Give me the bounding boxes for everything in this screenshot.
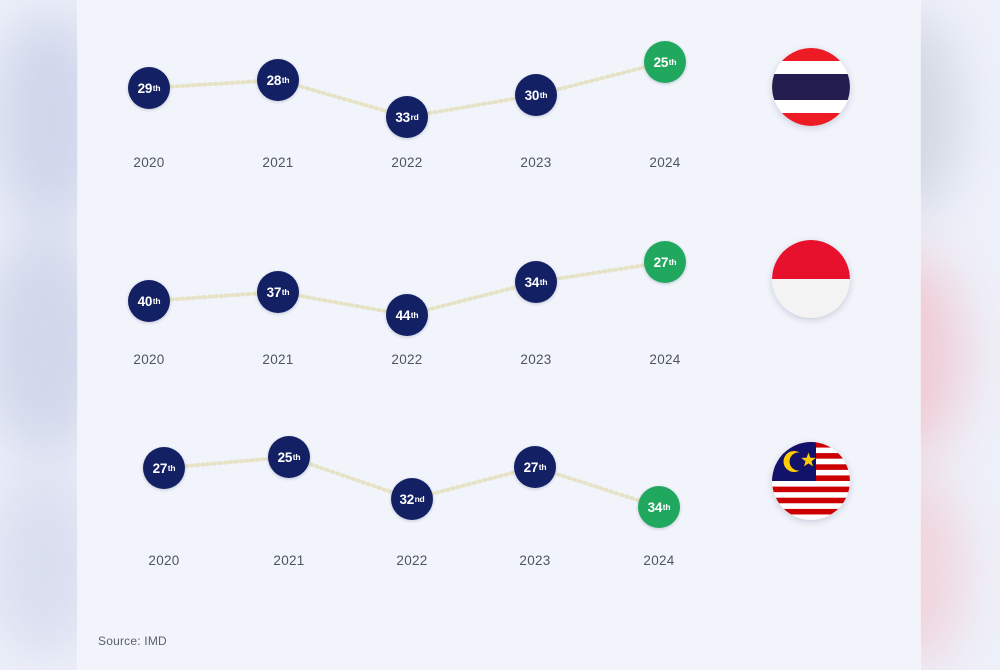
rank-bubble-indonesia-2022[interactable]: 44th [386, 294, 428, 336]
malaysia-flag [772, 442, 850, 520]
year-label-2021: 2021 [273, 553, 304, 568]
rank-bubble-thailand-2020[interactable]: 29th [128, 67, 170, 109]
year-label-2024: 2024 [643, 553, 674, 568]
rank-number: 40 [138, 294, 153, 309]
rank-number: 29 [138, 81, 153, 96]
rank-bubble-malaysia-2022[interactable]: 32nd [391, 478, 433, 520]
rank-number: 34 [525, 275, 540, 290]
year-label-2020: 2020 [133, 155, 164, 170]
year-label-2020: 2020 [133, 352, 164, 367]
country-row-thailand: 29th28th33rd30th25th20202021202220232024 [78, 0, 920, 200]
year-label-2024: 2024 [649, 155, 680, 170]
rank-bubble-thailand-2024[interactable]: 25th [644, 41, 686, 83]
rank-bubble-malaysia-2023[interactable]: 27th [514, 446, 556, 488]
year-label-2021: 2021 [262, 155, 293, 170]
rank-number: 32 [399, 492, 414, 507]
rank-timeline-indonesia: 40th37th44th34th27th [78, 196, 738, 371]
rank-bubble-thailand-2022[interactable]: 33rd [386, 96, 428, 138]
connector-line [78, 196, 738, 371]
rank-number: 25 [278, 450, 293, 465]
rank-number: 33 [395, 110, 410, 125]
year-label-2022: 2022 [396, 553, 427, 568]
rank-number: 28 [267, 73, 282, 88]
thailand-flag [772, 48, 850, 126]
rank-bubble-indonesia-2024[interactable]: 27th [644, 241, 686, 283]
rank-bubble-thailand-2023[interactable]: 30th [515, 74, 557, 116]
year-label-2023: 2023 [520, 155, 551, 170]
source-note: Source: IMD [98, 634, 167, 648]
rank-number: 25 [654, 55, 669, 70]
year-label-2020: 2020 [148, 553, 179, 568]
rank-bubble-malaysia-2024[interactable]: 34th [638, 486, 680, 528]
rank-number: 34 [648, 500, 663, 515]
rank-number: 44 [396, 308, 411, 323]
year-label-2023: 2023 [519, 553, 550, 568]
rank-number: 27 [153, 461, 168, 476]
country-row-indonesia: 40th37th44th34th27th20202021202220232024 [78, 196, 920, 394]
year-label-2022: 2022 [391, 352, 422, 367]
rank-number: 30 [525, 88, 540, 103]
rank-bubble-malaysia-2021[interactable]: 25th [268, 436, 310, 478]
rank-bubble-indonesia-2023[interactable]: 34th [515, 261, 557, 303]
year-label-2021: 2021 [262, 352, 293, 367]
rank-bubble-thailand-2021[interactable]: 28th [257, 59, 299, 101]
indonesia-flag [772, 240, 850, 318]
rank-number: 37 [267, 285, 282, 300]
rank-timeline-thailand: 29th28th33rd30th25th [78, 0, 738, 175]
rank-number: 27 [524, 460, 539, 475]
rank-bubble-malaysia-2020[interactable]: 27th [143, 447, 185, 489]
year-label-2023: 2023 [520, 352, 551, 367]
ranking-chart: 29th28th33rd30th25th20202021202220232024… [78, 0, 920, 670]
country-row-malaysia: 27th25th32nd27th34th20202021202220232024 [78, 392, 920, 592]
infographic-card: 29th28th33rd30th25th20202021202220232024… [78, 0, 920, 670]
rank-timeline-malaysia: 27th25th32nd27th34th [78, 392, 738, 567]
connector-line [78, 0, 738, 175]
rank-number: 27 [654, 255, 669, 270]
year-label-2024: 2024 [649, 352, 680, 367]
rank-bubble-indonesia-2021[interactable]: 37th [257, 271, 299, 313]
rank-bubble-indonesia-2020[interactable]: 40th [128, 280, 170, 322]
year-label-2022: 2022 [391, 155, 422, 170]
